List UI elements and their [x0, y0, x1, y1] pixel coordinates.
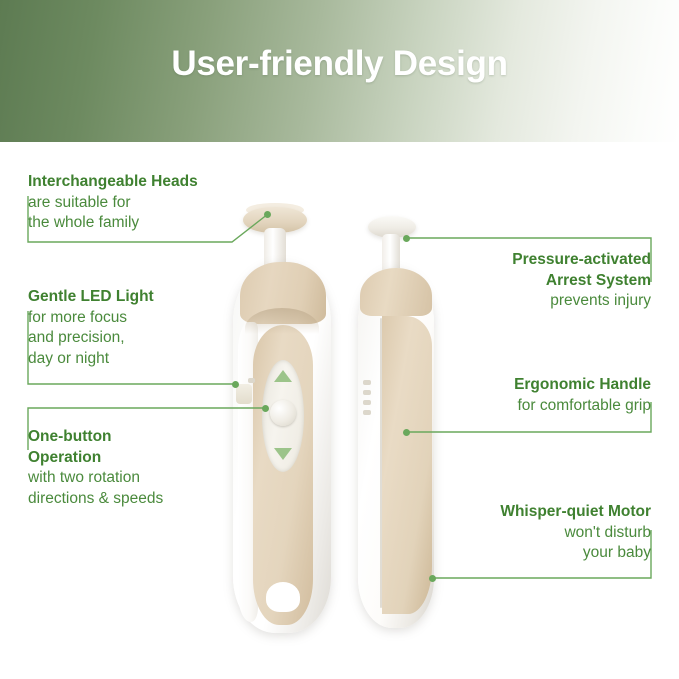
- product-feature-infographic: User-friendly Design: [0, 0, 679, 679]
- callout-gentle-led-light-line-3: day or night: [28, 349, 258, 370]
- callout-whisper-quiet-motor-line-1: won't disturb: [391, 523, 651, 544]
- device-side-buttons: [363, 380, 371, 424]
- device-side-tan-panel: [382, 316, 432, 614]
- callout-gentle-led-light-line-1: for more focus: [28, 308, 258, 329]
- callout-interchangeable-heads-line-2: the whole family: [28, 213, 268, 234]
- callout-ergonomic-handle-title: Ergonomic Handle: [391, 375, 651, 396]
- device-side-seam: [380, 318, 382, 608]
- side-button-1: [363, 380, 371, 385]
- callout-ergonomic-handle-line-1: for comfortable grip: [391, 396, 651, 417]
- anchor-dot-arrest: [403, 235, 410, 242]
- callout-gentle-led-light-title: Gentle LED Light: [28, 287, 258, 308]
- arrow-up-icon: [274, 370, 292, 382]
- power-button: [270, 400, 296, 426]
- callout-arrest-system-line-1: prevents injury: [391, 291, 651, 312]
- callout-arrest-system-title-1: Pressure-activated: [391, 250, 651, 271]
- led-light: [236, 384, 252, 404]
- device-front-bottom-notch: [266, 582, 300, 612]
- side-button-3: [363, 400, 371, 405]
- anchor-dot-led: [232, 381, 239, 388]
- callout-arrest-system-title-2: Arrest System: [391, 271, 651, 292]
- arrow-down-icon: [274, 448, 292, 460]
- device-front-side-button: [248, 378, 255, 383]
- callout-one-button-operation-line-1: with two rotation: [28, 468, 258, 489]
- page-title: User-friendly Design: [0, 44, 679, 84]
- callout-one-button-operation: One-button Operation with two rotation d…: [28, 427, 258, 509]
- anchor-dot-motor: [429, 575, 436, 582]
- callout-interchangeable-heads-title: Interchangeable Heads: [28, 172, 268, 193]
- callout-pressure-activated-arrest-system: Pressure-activated Arrest System prevent…: [391, 250, 651, 312]
- callout-gentle-led-light: Gentle LED Light for more focus and prec…: [28, 287, 258, 369]
- callout-whisper-quiet-motor-title: Whisper-quiet Motor: [391, 502, 651, 523]
- callout-whisper-quiet-motor-line-2: your baby: [391, 543, 651, 564]
- side-button-4: [363, 410, 371, 415]
- side-button-2: [363, 390, 371, 395]
- callout-one-button-operation-title-1: One-button: [28, 427, 258, 448]
- anchor-dot-button: [262, 405, 269, 412]
- callout-ergonomic-handle: Ergonomic Handle for comfortable grip: [391, 375, 651, 416]
- callout-whisper-quiet-motor: Whisper-quiet Motor won't disturb your b…: [391, 502, 651, 564]
- anchor-dot-handle: [403, 429, 410, 436]
- header-banner: User-friendly Design: [0, 0, 679, 142]
- callout-interchangeable-heads-line-1: are suitable for: [28, 193, 268, 214]
- callout-one-button-operation-line-2: directions & speeds: [28, 489, 258, 510]
- callout-interchangeable-heads: Interchangeable Heads are suitable for t…: [28, 172, 268, 234]
- callout-gentle-led-light-line-2: and precision,: [28, 328, 258, 349]
- callout-one-button-operation-title-2: Operation: [28, 448, 258, 469]
